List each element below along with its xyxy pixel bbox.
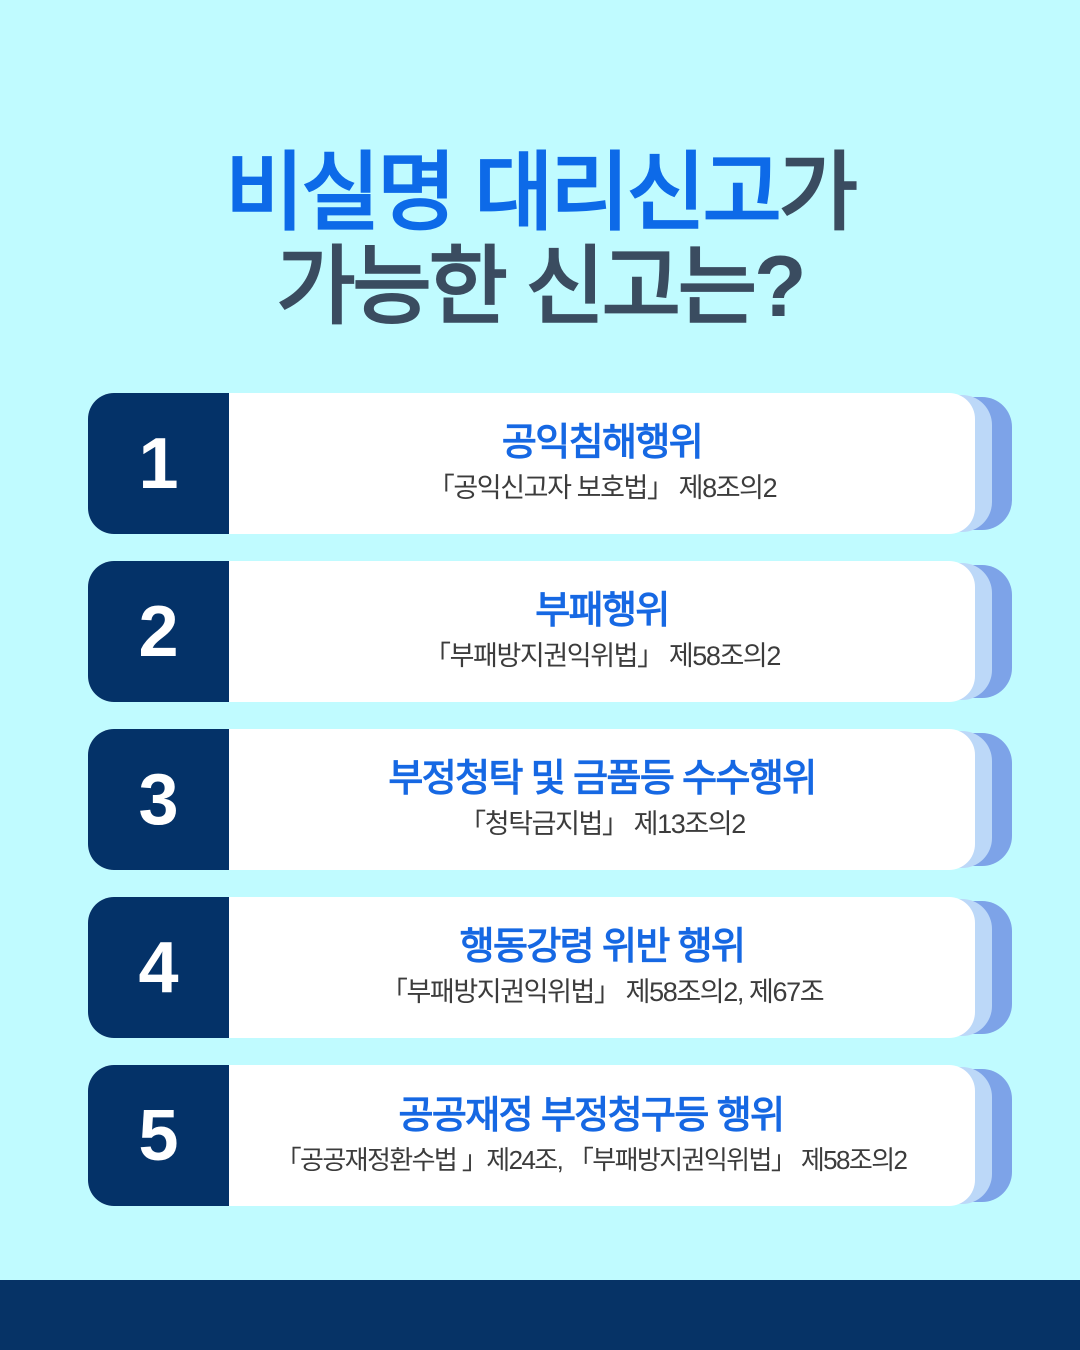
title-text-blue: 비실명 대리신고: [225, 145, 779, 241]
card-subtitle: 「공공재정환수법 」제24조, 「부패방지권익위법」 제58조의2: [276, 1145, 907, 1176]
card-number-badge: 3: [88, 729, 229, 870]
title-line-2: 가능한 신고는?: [0, 244, 1080, 332]
title-text-dark-suffix: 가: [779, 145, 855, 241]
card-number-text: 2: [138, 596, 178, 668]
card-subtitle: 「부패방지권익위법」 제58조의2, 제67조: [381, 976, 823, 1008]
card-text-column: 부패행위 「부패방지권익위법」 제58조의2: [229, 561, 975, 702]
card-title: 공익침해행위: [502, 422, 702, 466]
card-title: 부패행위: [535, 590, 668, 634]
card-subtitle: 「공익신고자 보호법」 제8조의2: [428, 472, 776, 504]
card-title: 공공재정 부정청구등 행위: [399, 1095, 784, 1139]
card-number-text: 4: [138, 932, 178, 1004]
card-subtitle: 「청탁금지법」 제13조의2: [459, 808, 745, 840]
list-item[interactable]: 1 공익침해행위 「공익신고자 보호법」 제8조의2: [88, 393, 1016, 534]
card-text-column: 공공재정 부정청구등 행위 「공공재정환수법 」제24조, 「부패방지권익위법」…: [176, 1065, 1006, 1206]
card-number-badge: 4: [88, 897, 229, 1038]
card-title: 부정청탁 및 금품등 수수행위: [388, 758, 815, 802]
card-number-badge: 1: [88, 393, 229, 534]
card-text-column: 공익침해행위 「공익신고자 보호법」 제8조의2: [229, 393, 975, 534]
list-item[interactable]: 3 부정청탁 및 금품등 수수행위 「청탁금지법」 제13조의2: [88, 729, 1016, 870]
card-number-badge: 2: [88, 561, 229, 702]
card-text-column: 행동강령 위반 행위 「부패방지권익위법」 제58조의2, 제67조: [229, 897, 975, 1038]
card-number-text: 1: [138, 428, 178, 500]
card-title: 행동강령 위반 행위: [460, 926, 745, 970]
list-item[interactable]: 5 공공재정 부정청구등 행위 「공공재정환수법 」제24조, 「부패방지권익위…: [88, 1065, 1016, 1206]
title-line-1: 비실명 대리신고가: [0, 150, 1080, 238]
list-item[interactable]: 4 행동강령 위반 행위 「부패방지권익위법」 제58조의2, 제67조: [88, 897, 1016, 1038]
card-subtitle: 「부패방지권익위법」 제58조의2: [424, 640, 780, 672]
list-item[interactable]: 2 부패행위 「부패방지권익위법」 제58조의2: [88, 561, 1016, 702]
bottom-bar: [0, 1280, 1080, 1350]
card-number-text: 3: [138, 764, 178, 836]
page-title: 비실명 대리신고가 가능한 신고는?: [0, 150, 1080, 331]
card-number-text: 5: [138, 1100, 178, 1172]
report-type-list: 1 공익침해행위 「공익신고자 보호법」 제8조의2 2 부패행위 「부패방지권…: [88, 393, 1016, 1233]
card-text-column: 부정청탁 및 금품등 수수행위 「청탁금지법」 제13조의2: [229, 729, 975, 870]
